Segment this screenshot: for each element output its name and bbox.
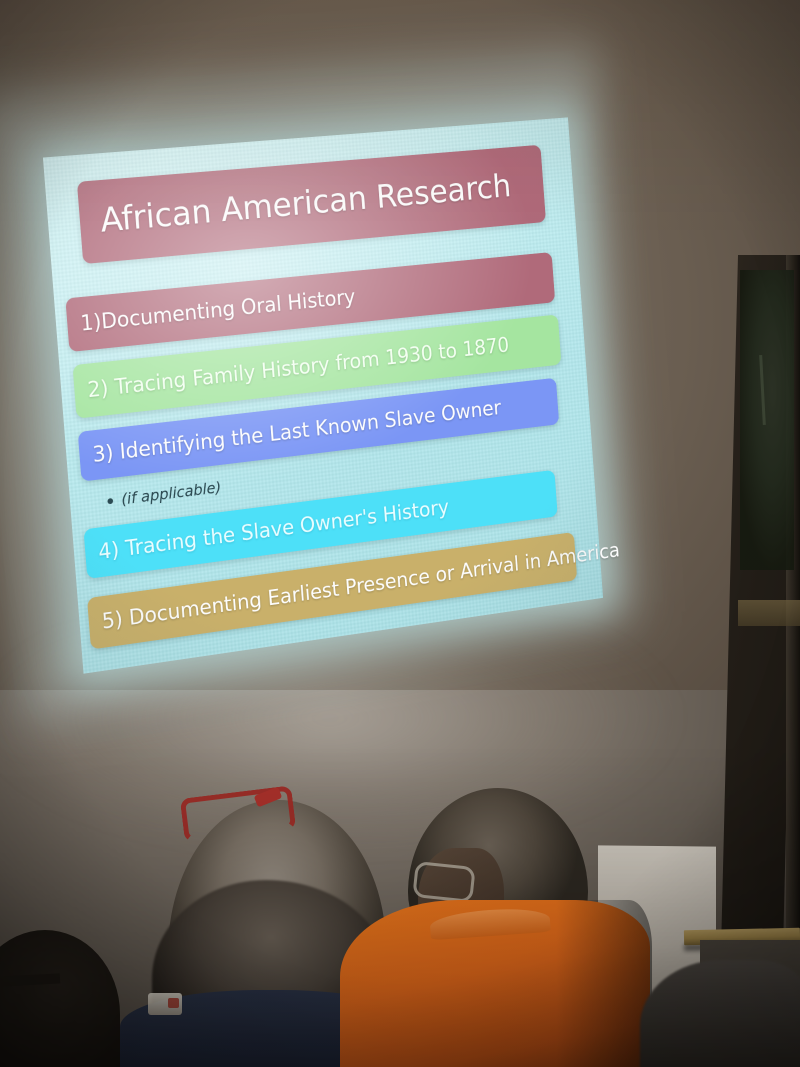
projection-area: African American Research 1)Documenting …	[0, 120, 700, 760]
photo-scene: African American Research 1)Documenting …	[0, 0, 800, 1067]
cup-red-label	[168, 998, 179, 1008]
slide-title: African American Research	[79, 168, 513, 242]
eyeglasses-icon-right	[412, 861, 475, 903]
slide-sub-bullet-label: (if applicable)	[121, 478, 222, 508]
slide-item-1-label: 1)Documenting Oral History	[67, 285, 357, 337]
projection-screen: African American Research 1)Documenting …	[0, 79, 619, 697]
slide-sub-bullet: (if applicable)	[107, 478, 222, 510]
slide-title-bar: African American Research	[77, 145, 546, 264]
dark-shelf	[738, 600, 800, 626]
person-right-shirt-shadow	[556, 900, 652, 1067]
bullet-dot-icon	[107, 497, 113, 503]
potted-plant	[740, 270, 794, 570]
presentation-slide: African American Research 1)Documenting …	[43, 117, 603, 673]
